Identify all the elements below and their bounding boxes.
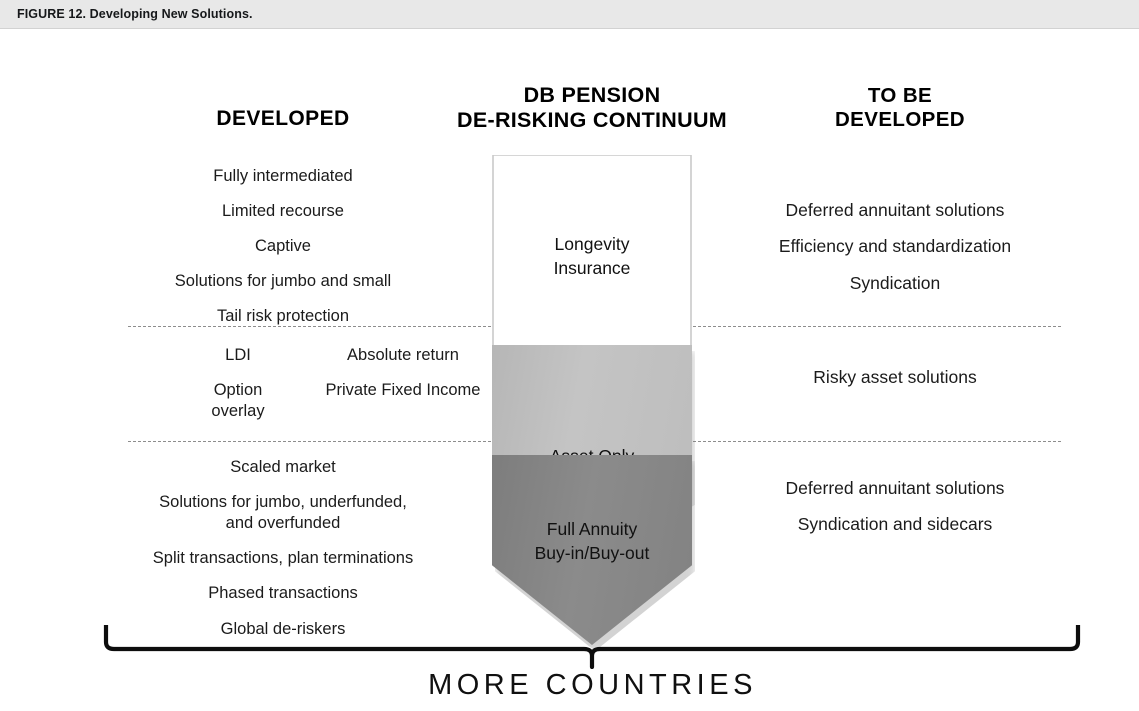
de-risking-continuum-arrow: Longevity Insurance Asset Only Solutions… [492,155,692,615]
figure-caption: FIGURE 12. Developing New Solutions. [17,7,253,21]
list-item: Risky asset solutions [745,366,1045,388]
list-item: Deferred annuitant solutions [745,199,1045,221]
list-item: Limited recourse [133,201,433,222]
developed-list-band3: Scaled market Solutions for jumbo, under… [133,457,433,640]
developed-list-band2-column2: Absolute return Private Fixed Income [308,345,498,415]
list-item: Fully intermediated [133,166,433,187]
list-item: Captive [133,236,433,257]
to-be-developed-list-band2: Risky asset solutions [745,366,1045,388]
list-item: Deferred annuitant solutions [745,477,1045,499]
developed-list-band1: Fully intermediated Limited recourse Cap… [133,166,433,328]
column-header-developed: DEVELOPED [133,107,433,132]
list-item: Solutions for jumbo, underfunded, and ov… [133,492,433,534]
list-item: Scaled market [133,457,433,478]
developed-list-band2-column1: LDI Option overlay [173,345,303,435]
to-be-developed-list-band3: Deferred annuitant solutions Syndication… [745,477,1045,536]
continuum-band-label: Full Annuity Buy-in/Buy-out [492,518,692,566]
list-item: Absolute return [308,345,498,366]
list-item: Tail risk protection [133,306,433,327]
list-item: Option overlay [173,380,303,422]
developed-list-band2: LDI Option overlay Absolute return Priva… [133,345,463,425]
continuum-band-full-annuity-buyin-buyout: Full Annuity Buy-in/Buy-out [492,455,692,645]
figure-canvas: DEVELOPED DB PENSION DE-RISKING CONTINUU… [0,29,1139,711]
list-item: Phased transactions [133,583,433,604]
list-item: Efficiency and standardization [745,235,1045,257]
list-item: LDI [173,345,303,366]
to-be-developed-list-band1: Deferred annuitant solutions Efficiency … [745,199,1045,294]
list-item: Private Fixed Income [308,380,498,401]
list-item: Split transactions, plan terminations [133,548,433,569]
figure-title-bar: FIGURE 12. Developing New Solutions. [0,0,1139,29]
column-header-to-be-developed: TO BE DEVELOPED [745,84,1055,132]
list-item: Solutions for jumbo and small [133,271,433,292]
column-header-continuum: DB PENSION DE-RISKING CONTINUUM [392,83,792,133]
more-countries-label: MORE COUNTRIES [270,669,915,702]
list-item: Syndication [745,272,1045,294]
more-countries-brace [100,621,1085,669]
list-item: Syndication and sidecars [745,513,1045,535]
